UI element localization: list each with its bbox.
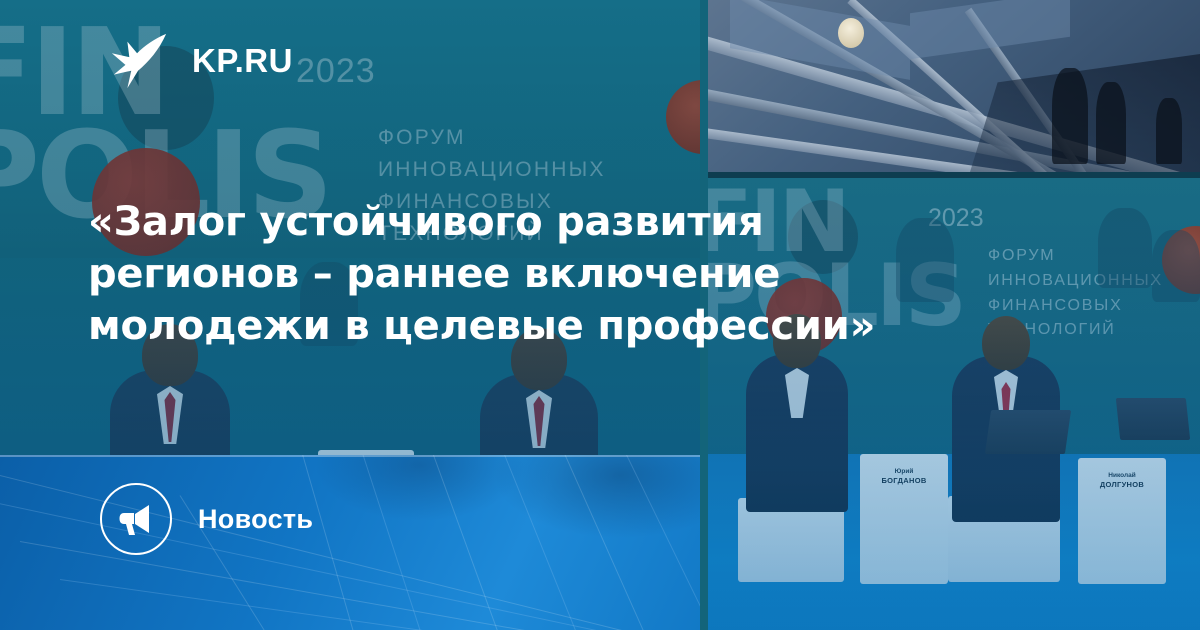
visitor-silhouette — [1096, 82, 1126, 164]
headline: «Залог устойчивого развития регионов – р… — [88, 196, 1088, 352]
headline-line-3: молодежи в целевые профессии» — [88, 300, 1088, 352]
news-badge-label: Новость — [198, 504, 313, 535]
architecture-photo — [700, 0, 1200, 172]
ceiling-lamp-icon — [838, 18, 864, 48]
site-logo-text: KP.RU — [192, 42, 293, 80]
news-badge[interactable]: Новость — [100, 483, 313, 555]
swallow-bird-icon — [108, 30, 170, 92]
headline-line-1: «Залог устойчивого развития — [88, 196, 1088, 248]
news-share-card: FIN POLIS 2023 ФОРУМ ИННОВАЦИОННЫХ ФИНАН… — [0, 0, 1200, 630]
headline-line-2: регионов – раннее включение — [88, 248, 1088, 300]
visitor-silhouette — [1156, 98, 1182, 164]
band-top-rule — [0, 455, 700, 457]
badge-circle — [100, 483, 172, 555]
megaphone-icon — [118, 502, 154, 536]
visitor-silhouette — [1052, 68, 1088, 164]
site-logo[interactable]: KP.RU — [108, 30, 293, 92]
truss-panel — [910, 0, 1070, 59]
